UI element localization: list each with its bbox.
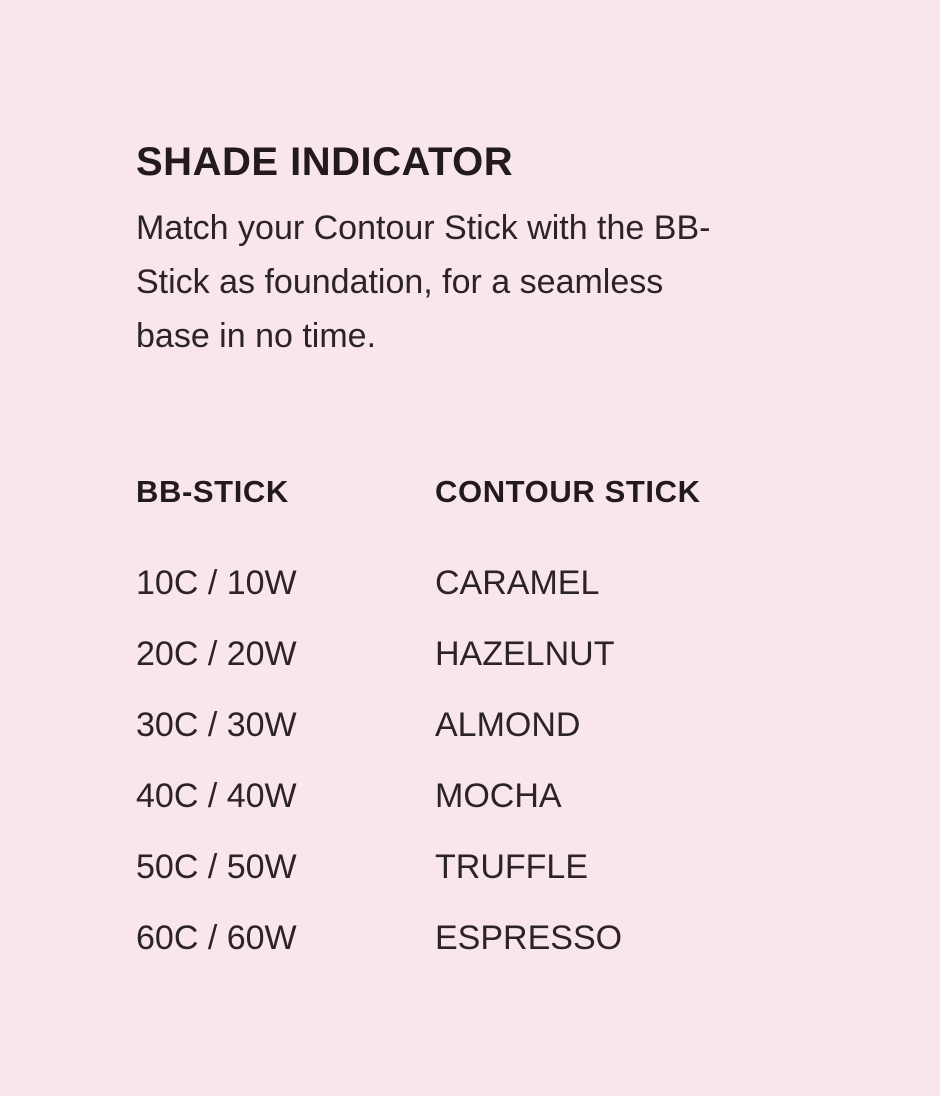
cell-contour-stick: ALMOND [435,690,836,761]
cell-contour-stick: ESPRESSO [435,903,836,974]
cell-bb-stick: 50C / 50W [136,832,435,903]
table-body: 10C / 10W CARAMEL 20C / 20W HAZELNUT 30C… [136,548,836,974]
shade-indicator-panel: SHADE INDICATOR Match your Contour Stick… [0,0,940,1096]
cell-bb-stick: 40C / 40W [136,761,435,832]
cell-contour-stick: TRUFFLE [435,832,836,903]
table-row: 30C / 30W ALMOND [136,690,836,761]
table-row: 50C / 50W TRUFFLE [136,832,836,903]
cell-contour-stick: HAZELNUT [435,619,836,690]
shade-match-table: BB-STICK CONTOUR STICK 10C / 10W CARAMEL… [136,470,836,974]
column-header-contour-stick: CONTOUR STICK [435,470,836,548]
table-row: 60C / 60W ESPRESSO [136,903,836,974]
cell-bb-stick: 10C / 10W [136,548,435,619]
cell-bb-stick: 30C / 30W [136,690,435,761]
table-row: 40C / 40W MOCHA [136,761,836,832]
intro-description: Match your Contour Stick with the BB-Sti… [136,185,736,363]
cell-bb-stick: 60C / 60W [136,903,435,974]
column-header-bb-stick: BB-STICK [136,470,435,548]
table-row: 10C / 10W CARAMEL [136,548,836,619]
cell-bb-stick: 20C / 20W [136,619,435,690]
table-header-row: BB-STICK CONTOUR STICK [136,470,836,548]
page-title: SHADE INDICATOR [136,139,836,185]
header-block: SHADE INDICATOR Match your Contour Stick… [136,139,836,363]
table-row: 20C / 20W HAZELNUT [136,619,836,690]
cell-contour-stick: CARAMEL [435,548,836,619]
cell-contour-stick: MOCHA [435,761,836,832]
